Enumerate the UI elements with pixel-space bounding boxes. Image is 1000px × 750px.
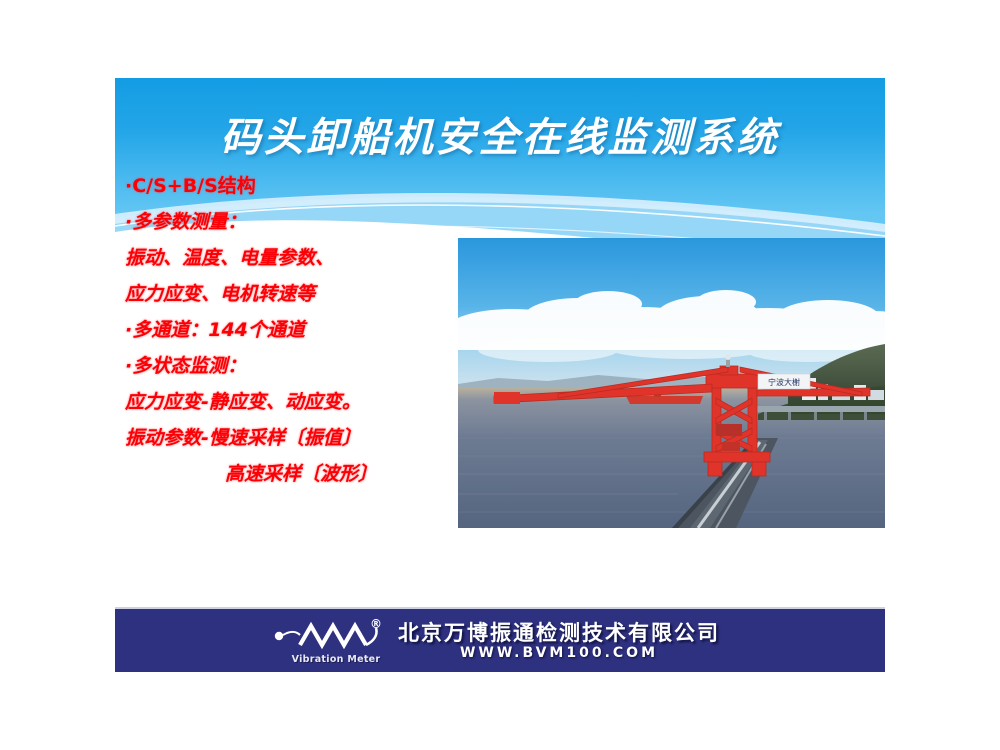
bullet-line-7: 应力应变-静应变、动应变。: [125, 384, 485, 420]
company-identity: 北京万博振通检测技术有限公司 WWW.BVM100.COM: [398, 621, 720, 662]
company-name-cn: 北京万博振通检测技术有限公司: [398, 621, 720, 645]
bullet-line-9: 高速采样〔波形〕: [125, 456, 485, 492]
logo-caption: Vibration Meter: [284, 654, 388, 665]
registered-trademark-icon: ®: [370, 617, 382, 631]
presentation-slide: 码头卸船机安全在线监测系统 ·C/S+B/S结构 ·多参数测量： 振动、温度、电…: [115, 78, 885, 672]
bullet-line-6: ·多状态监测：: [125, 348, 485, 384]
bullet-line-2: ·多参数测量：: [125, 204, 485, 240]
slide-body-text: ·C/S+B/S结构 ·多参数测量： 振动、温度、电量参数、 应力应变、电机转速…: [125, 168, 485, 492]
svg-text:宁波大榭: 宁波大榭: [768, 377, 800, 387]
slide-footer-bar: ® Vibration Meter 北京万博振通检测技术有限公司 WWW.BVM…: [115, 607, 885, 672]
bullet-line-3: 振动、温度、电量参数、: [125, 240, 485, 276]
bullet-line-5: ·多通道：144个通道: [125, 312, 485, 348]
bullet-line-8: 振动参数-慢速采样〔振值〕: [125, 420, 485, 456]
company-website-url: WWW.BVM100.COM: [460, 645, 658, 662]
vibration-meter-logo: ® Vibration Meter: [270, 619, 388, 665]
port-crane-photo: 宁波大榭: [458, 238, 885, 528]
slide-title: 码头卸船机安全在线监测系统: [115, 105, 885, 163]
bullet-line-4: 应力应变、电机转速等: [125, 276, 485, 312]
bullet-line-1: ·C/S+B/S结构: [125, 168, 485, 204]
